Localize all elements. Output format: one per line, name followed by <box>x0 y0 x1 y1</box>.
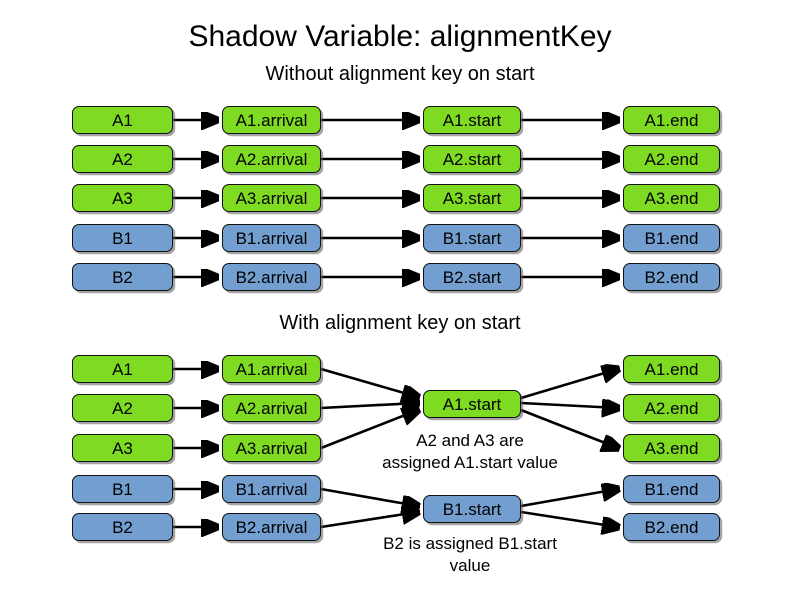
diagram-canvas: Shadow Variable: alignmentKey Without al… <box>0 0 800 600</box>
node-top-arrival-a2[interactable]: A2.arrival <box>222 145 321 173</box>
node-bottom-end-a1[interactable]: A1.end <box>623 355 720 383</box>
node-bottom-shared-start-a1[interactable]: A1.start <box>423 390 521 418</box>
node-bottom-entity-a3[interactable]: A3 <box>72 434 173 462</box>
caption-b-line2: value <box>345 555 595 576</box>
node-top-entity-a2[interactable]: A2 <box>72 145 173 173</box>
node-bottom-arrival-b1[interactable]: B1.arrival <box>222 475 321 503</box>
node-bottom-arrival-a1[interactable]: A1.arrival <box>222 355 321 383</box>
node-top-arrival-a1[interactable]: A1.arrival <box>222 106 321 134</box>
node-top-entity-b1[interactable]: B1 <box>72 224 173 252</box>
node-top-end-b2[interactable]: B2.end <box>623 263 720 291</box>
node-top-start-a3[interactable]: A3.start <box>423 184 521 212</box>
node-top-entity-a1[interactable]: A1 <box>72 106 173 134</box>
node-top-arrival-b1[interactable]: B1.arrival <box>222 224 321 252</box>
top-section-arrows <box>0 0 800 600</box>
node-top-end-a3[interactable]: A3.end <box>623 184 720 212</box>
node-top-arrival-b2[interactable]: B2.arrival <box>222 263 321 291</box>
node-top-start-a1[interactable]: A1.start <box>423 106 521 134</box>
node-bottom-end-a3[interactable]: A3.end <box>623 434 720 462</box>
node-top-arrival-a3[interactable]: A3.arrival <box>222 184 321 212</box>
node-bottom-shared-start-b1[interactable]: B1.start <box>423 495 521 523</box>
section-subtitle-with-alignment: With alignment key on start <box>0 311 800 335</box>
node-top-start-a2[interactable]: A2.start <box>423 145 521 173</box>
node-bottom-arrival-a2[interactable]: A2.arrival <box>222 394 321 422</box>
node-top-end-a1[interactable]: A1.end <box>623 106 720 134</box>
node-top-start-b1[interactable]: B1.start <box>423 224 521 252</box>
node-bottom-arrival-b2[interactable]: B2.arrival <box>222 513 321 541</box>
node-bottom-end-a2[interactable]: A2.end <box>623 394 720 422</box>
node-top-start-b2[interactable]: B2.start <box>423 263 521 291</box>
node-bottom-entity-a1[interactable]: A1 <box>72 355 173 383</box>
section-subtitle-without-alignment: Without alignment key on start <box>0 62 800 86</box>
caption-a-line2: assigned A1.start value <box>345 452 595 473</box>
caption-a-line1: A2 and A3 are <box>345 430 595 451</box>
node-bottom-end-b2[interactable]: B2.end <box>623 513 720 541</box>
caption-b-line1: B2 is assigned B1.start <box>345 533 595 554</box>
page-title: Shadow Variable: alignmentKey <box>0 20 800 54</box>
node-top-entity-b2[interactable]: B2 <box>72 263 173 291</box>
node-top-end-a2[interactable]: A2.end <box>623 145 720 173</box>
node-bottom-entity-b2[interactable]: B2 <box>72 513 173 541</box>
node-bottom-end-b1[interactable]: B1.end <box>623 475 720 503</box>
node-bottom-entity-a2[interactable]: A2 <box>72 394 173 422</box>
node-bottom-arrival-a3[interactable]: A3.arrival <box>222 434 321 462</box>
bottom-section-arrows <box>0 0 800 600</box>
node-top-entity-a3[interactable]: A3 <box>72 184 173 212</box>
node-bottom-entity-b1[interactable]: B1 <box>72 475 173 503</box>
node-top-end-b1[interactable]: B1.end <box>623 224 720 252</box>
